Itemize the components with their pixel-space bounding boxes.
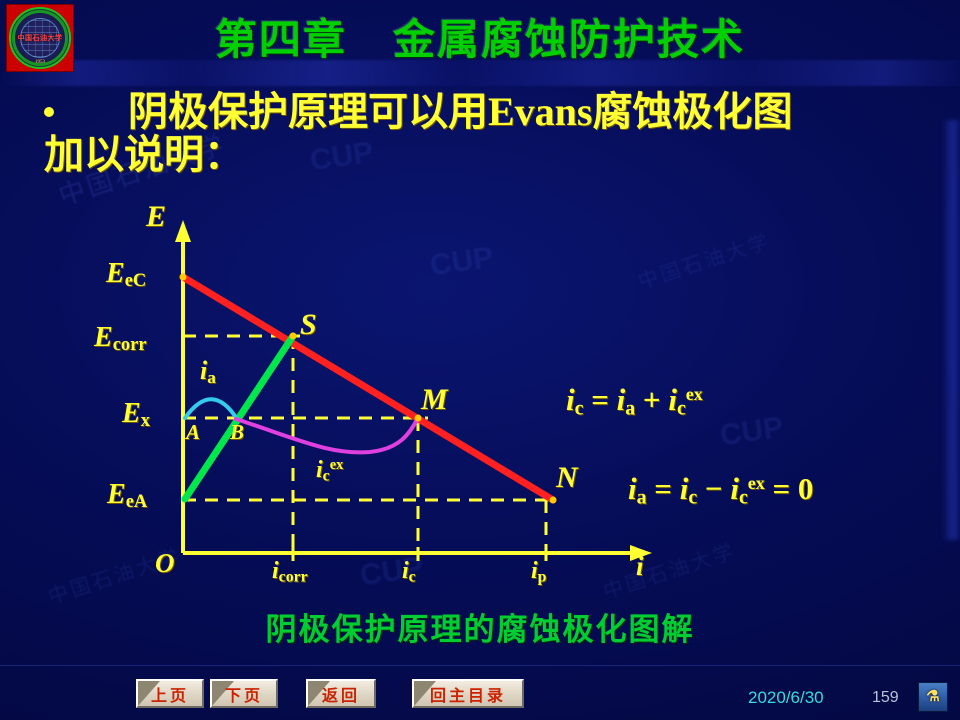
slide-title-chapter: 第四章 [215,18,347,64]
figure-caption: 阴极保护原理的腐蚀极化图解 [0,604,960,649]
curve-label-ia: ia [200,356,216,388]
footer-page-number: 159 [872,689,899,707]
footer-app-icon[interactable]: ⚗ [918,682,948,712]
point-label-N: N [556,461,578,495]
ia-current-curve [185,399,237,419]
y-tick-label-Ecorr: Ecorr [94,322,147,355]
equation-ic: ic = ia + icex [566,382,703,420]
next-page-label: 下页 [225,682,263,706]
bullet-text-block: 阴极保护原理可以用Evans腐蚀极化图 加以说明： [44,90,934,176]
y-tick-label-EeC: EeC [106,258,146,291]
icex-current-curve [236,418,418,452]
next-page-button[interactable]: 下页 [210,679,278,708]
return-button[interactable]: 返回 [306,679,376,708]
main-menu-button[interactable]: 回主目录 [412,679,524,708]
bullet-line-1: 阴极保护原理可以用Evans腐蚀极化图 [44,90,934,133]
bullet-line-1-text: 阴极保护原理可以用Evans腐蚀极化图 [128,89,793,134]
bullet-dot-icon [44,107,54,117]
bullet-line-2: 加以说明： [44,133,934,176]
y-tick-label-EeA: EeA [107,479,147,512]
flask-icon: ⚗ [926,690,939,705]
point-label-S: S [300,308,317,342]
cathodic-polarization-line [183,277,553,500]
point-label-A: A [186,420,200,445]
point-label-B: B [230,420,244,445]
x-tick-label-ic: ic [402,558,416,586]
x-tick-label-icorr: icorr [272,558,308,586]
footer-date: 2020/6/30 [748,688,824,708]
slide-title-topic: 金属腐蚀防护技术 [393,18,745,64]
origin-label: O [155,548,175,579]
x-axis-title: i [636,551,644,582]
slide-title: 第四章金属腐蚀防护技术 [0,6,960,67]
y-axis-title: E [146,200,166,234]
logo-center-text: 中国石油大学 [18,33,63,43]
slide-canvas: 中国石油大学 CUP 中国石油大学 CUP 中国石油大学 CUP 中国石油大学 … [0,0,960,720]
main-menu-label: 回主目录 [430,682,506,706]
equation-ia: ia = ic − icex = 0 [628,471,813,509]
point-label-M: M [421,383,448,417]
prev-page-label: 上页 [151,682,189,706]
logo-year: 1953 [11,60,69,65]
prev-page-button[interactable]: 上页 [136,679,204,708]
x-tick-label-ip: ip [531,558,546,586]
y-tick-label-Ex: Ex [122,398,150,431]
footer-divider [0,665,960,666]
return-label: 返回 [322,682,360,706]
curve-label-icex: icex [316,457,343,485]
